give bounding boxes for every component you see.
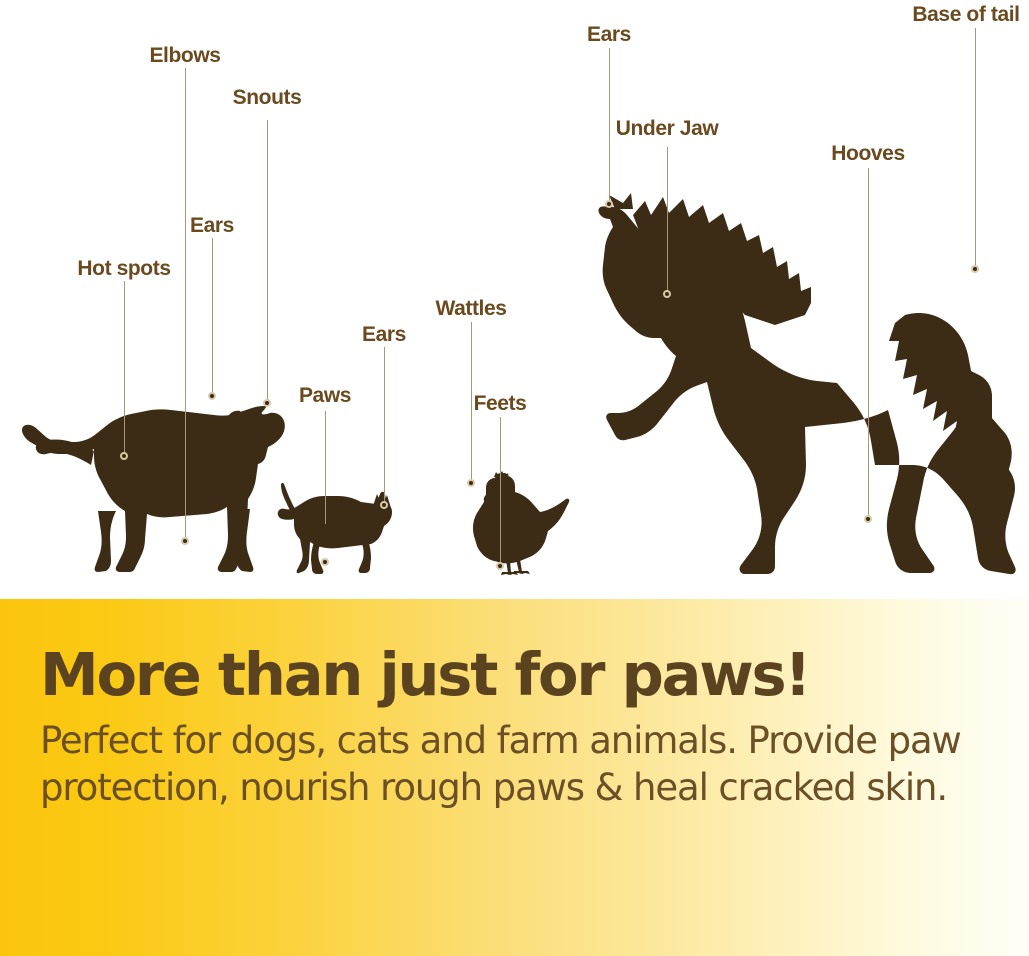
cat-silhouette xyxy=(276,482,396,574)
leader-line xyxy=(325,411,326,524)
dog-silhouette xyxy=(18,383,288,573)
callout-label: Ears xyxy=(190,215,234,236)
anchor-marker xyxy=(208,392,216,400)
leader-line xyxy=(868,168,869,517)
leader-line xyxy=(124,281,125,455)
leader-line xyxy=(185,68,186,540)
callout-label: Under Jaw xyxy=(616,118,719,139)
callout-label: Elbows xyxy=(149,45,220,66)
anchor-marker xyxy=(864,515,872,523)
callout-label: Snouts xyxy=(233,87,302,108)
chicken-silhouette xyxy=(466,470,570,575)
leader-line xyxy=(609,48,610,203)
anchor-marker xyxy=(605,200,613,208)
infographic-page: Hot spots Elbows Ears Snouts Paws xyxy=(0,0,1029,956)
leader-line xyxy=(384,347,385,504)
promo-body-text: Perfect for dogs, cats and farm animals.… xyxy=(40,718,985,812)
promo-banner: More than just for paws! Perfect for dog… xyxy=(0,599,1029,956)
callout-label: Wattles xyxy=(435,298,506,319)
promo-content: More than just for paws! Perfect for dog… xyxy=(40,645,989,812)
callout-label: Hooves xyxy=(831,143,904,164)
promo-heading: More than just for paws! xyxy=(40,645,989,704)
anchor-marker xyxy=(380,501,388,509)
callout-label: Paws xyxy=(299,385,351,406)
anchor-marker xyxy=(467,479,475,487)
anchor-marker xyxy=(971,265,979,273)
leader-line xyxy=(500,417,501,565)
callout-label: Base of tail xyxy=(912,4,1019,25)
anchor-marker xyxy=(263,399,271,407)
anchor-marker xyxy=(663,290,671,298)
callout-label: Feets xyxy=(474,393,527,414)
leader-line xyxy=(471,322,472,482)
callout-label: Ears xyxy=(362,324,406,345)
callout-label: Hot spots xyxy=(77,258,170,279)
anchor-marker xyxy=(120,452,128,460)
leader-line xyxy=(975,28,976,268)
leader-line xyxy=(267,120,268,402)
leader-line xyxy=(212,238,213,395)
horse-silhouette xyxy=(575,175,1020,575)
anchor-marker xyxy=(181,537,189,545)
anchor-marker xyxy=(496,562,504,570)
callout-label: Ears xyxy=(587,24,631,45)
animal-illustration-panel: Hot spots Elbows Ears Snouts Paws xyxy=(0,0,1029,599)
leader-line xyxy=(667,147,668,293)
anchor-marker xyxy=(321,558,329,566)
